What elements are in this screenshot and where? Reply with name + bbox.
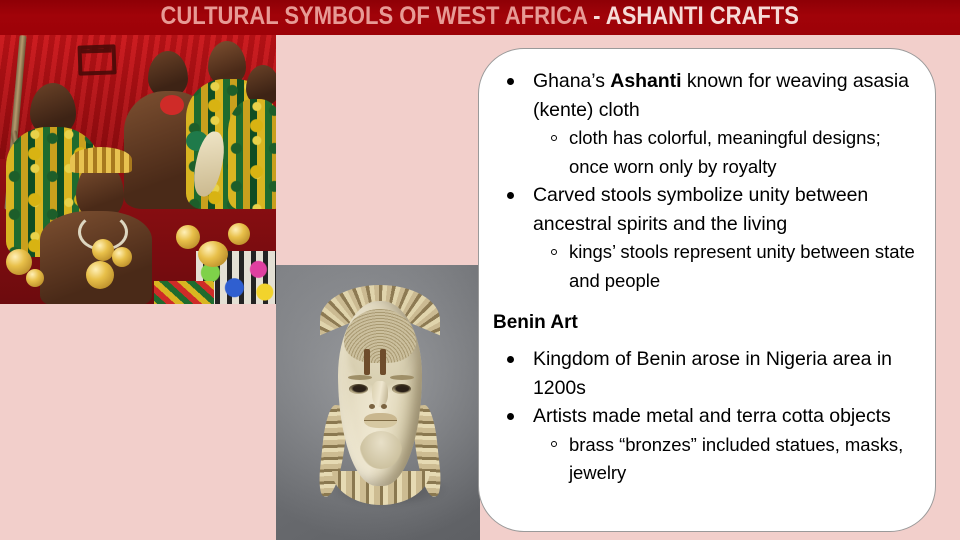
gold-regalia — [26, 269, 44, 287]
red-ornament — [160, 95, 184, 115]
kente-strip — [154, 281, 214, 304]
gold-regalia — [198, 241, 228, 267]
content-panel: Ghana’s Ashanti known for weaving asasia… — [478, 48, 936, 532]
list-item: Artists made metal and terra cotta objec… — [487, 402, 917, 431]
list-item: Ghana’s Ashanti known for weaving asasia… — [487, 67, 917, 124]
bullet-list-benin: Kingdom of Benin arose in Nigeria area i… — [487, 345, 917, 488]
gold-regalia — [92, 239, 114, 261]
benin-ivory-mask-photo — [276, 265, 480, 540]
mask-chin — [360, 431, 402, 469]
slide-title-bar: CULTURAL SYMBOLS OF WEST AFRICA - ASHANT… — [0, 0, 960, 35]
slide: CULTURAL SYMBOLS OF WEST AFRICA - ASHANT… — [0, 0, 960, 540]
mask-eyebrow-right — [390, 375, 414, 380]
title-part-one: CULTURAL SYMBOLS OF WEST AFRICA — [161, 2, 588, 30]
gold-crown — [70, 147, 132, 173]
bullet-list-ashanti: Ghana’s Ashanti known for weaving asasia… — [487, 67, 917, 295]
list-item: cloth has colorful, meaningful designs; … — [487, 124, 917, 181]
section-heading-benin-art: Benin Art — [487, 309, 917, 337]
content-body: Ghana’s Ashanti known for weaving asasia… — [479, 49, 935, 488]
mask-eye-left — [349, 384, 368, 394]
ashanti-chiefs-photo — [0, 35, 276, 304]
gold-regalia — [176, 225, 200, 249]
title-part-two: ASHANTI CRAFTS — [606, 2, 799, 30]
mask-eyebrow-left — [348, 375, 372, 380]
forehead-scarification — [364, 349, 370, 375]
figure-torso — [228, 99, 276, 209]
slide-title: CULTURAL SYMBOLS OF WEST AFRICA - ASHANT… — [161, 4, 799, 31]
mask-lips — [364, 413, 397, 428]
mask-nose — [372, 381, 388, 407]
gold-regalia — [228, 223, 250, 245]
list-item: Carved stools symbolize unity between an… — [487, 181, 917, 238]
mask-nostril-left — [369, 404, 375, 409]
mask-nostril-right — [381, 404, 387, 409]
gold-regalia — [86, 261, 114, 289]
forehead-scarification — [380, 349, 386, 375]
list-item: kings’ stools represent unity between st… — [487, 238, 917, 295]
bullet-text-bold: Ashanti — [610, 70, 681, 92]
list-item: brass “bronzes” included statues, masks,… — [487, 431, 917, 488]
list-item: Kingdom of Benin arose in Nigeria area i… — [487, 345, 917, 402]
adinkra-symbol — [77, 44, 116, 75]
bullet-text-lead: Ghana’s — [533, 70, 610, 92]
title-separator: - — [587, 2, 606, 30]
gold-regalia — [112, 247, 132, 267]
mask-eye-right — [392, 384, 411, 394]
